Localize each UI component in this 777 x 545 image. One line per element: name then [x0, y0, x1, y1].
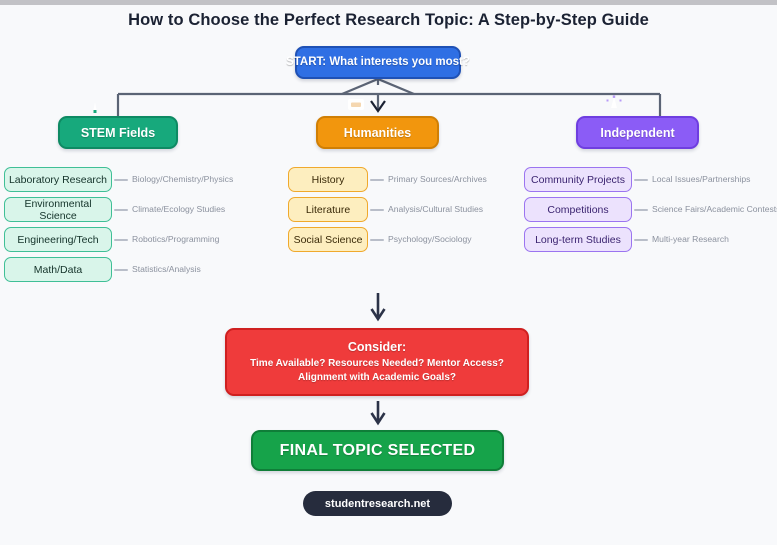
humanities-item-social-science[interactable]: Social Science [288, 227, 368, 252]
humanities-item-history-desc: Primary Sources/Archives [388, 167, 487, 192]
stem-item-math-data-desc: Statistics/Analysis [132, 257, 201, 282]
connector-dash [634, 179, 648, 181]
connector-dash [114, 209, 128, 211]
sparkle-icon-stem [84, 101, 106, 117]
stem-item-environmental-science[interactable]: Environmental Science [4, 197, 112, 222]
category-humanities-label: Humanities [344, 126, 411, 140]
independent-item-competitions-label: Competitions [547, 204, 608, 216]
sparkle-icon-independent [603, 95, 625, 111]
humanities-item-social-science-label: Social Science [294, 234, 363, 246]
sparkle-icon-humanities [345, 97, 367, 113]
consider-node[interactable]: Consider: Time Available? Resources Need… [225, 328, 529, 396]
footer-site-badge-label: studentresearch.net [325, 498, 430, 510]
page-title: How to Choose the Perfect Research Topic… [0, 11, 777, 30]
humanities-item-literature-desc: Analysis/Cultural Studies [388, 197, 483, 222]
category-stem-fields[interactable]: STEM Fields [58, 116, 178, 149]
independent-item-long-term-studies-desc: Multi-year Research [652, 227, 729, 252]
category-stem-fields-label: STEM Fields [81, 126, 155, 140]
independent-item-competitions[interactable]: Competitions [524, 197, 632, 222]
independent-item-long-term-studies[interactable]: Long-term Studies [524, 227, 632, 252]
connector-dash [370, 179, 384, 181]
connector-dash [114, 269, 128, 271]
stem-item-engineering-tech-label: Engineering/Tech [17, 234, 98, 246]
stem-item-math-data[interactable]: Math/Data [4, 257, 112, 282]
independent-item-community-projects-label: Community Projects [531, 174, 625, 186]
connector-dash [634, 209, 648, 211]
stem-item-engineering-tech[interactable]: Engineering/Tech [4, 227, 112, 252]
independent-item-competitions-desc: Science Fairs/Academic Contests [652, 197, 777, 222]
consider-node-title: Consider: [348, 340, 406, 354]
category-independent[interactable]: Independent [576, 116, 699, 149]
stem-item-laboratory-research-desc: Biology/Chemistry/Physics [132, 167, 233, 192]
flowchart-canvas: How to Choose the Perfect Research Topic… [0, 5, 777, 545]
consider-node-line-2: Alignment with Academic Goals? [298, 371, 456, 385]
category-humanities[interactable]: Humanities [316, 116, 439, 149]
stem-item-environmental-science-label: Environmental Science [5, 198, 111, 222]
connector-dash [114, 179, 128, 181]
stem-item-environmental-science-desc: Climate/Ecology Studies [132, 197, 225, 222]
stem-item-laboratory-research-label: Laboratory Research [9, 174, 107, 186]
independent-item-community-projects-desc: Local Issues/Partnerships [652, 167, 750, 192]
category-independent-label: Independent [600, 126, 674, 140]
footer-site-badge[interactable]: studentresearch.net [303, 491, 452, 516]
final-topic-selected-node[interactable]: FINAL TOPIC SELECTED [251, 430, 504, 471]
humanities-item-history-label: History [312, 174, 345, 186]
humanities-item-literature-label: Literature [306, 204, 350, 216]
connector-dash [370, 209, 384, 211]
stem-item-laboratory-research[interactable]: Laboratory Research [4, 167, 112, 192]
stem-item-math-data-label: Math/Data [34, 264, 82, 276]
stem-item-engineering-tech-desc: Robotics/Programming [132, 227, 219, 252]
connector-dash [114, 239, 128, 241]
consider-node-line-1: Time Available? Resources Needed? Mentor… [250, 357, 504, 371]
humanities-item-social-science-desc: Psychology/Sociology [388, 227, 472, 252]
humanities-item-literature[interactable]: Literature [288, 197, 368, 222]
start-node-label: START: What interests you most? [286, 56, 470, 68]
humanities-item-history[interactable]: History [288, 167, 368, 192]
independent-item-long-term-studies-label: Long-term Studies [535, 234, 621, 246]
final-topic-selected-label: FINAL TOPIC SELECTED [280, 442, 476, 460]
independent-item-community-projects[interactable]: Community Projects [524, 167, 632, 192]
connector-dash [634, 239, 648, 241]
connector-dash [370, 239, 384, 241]
